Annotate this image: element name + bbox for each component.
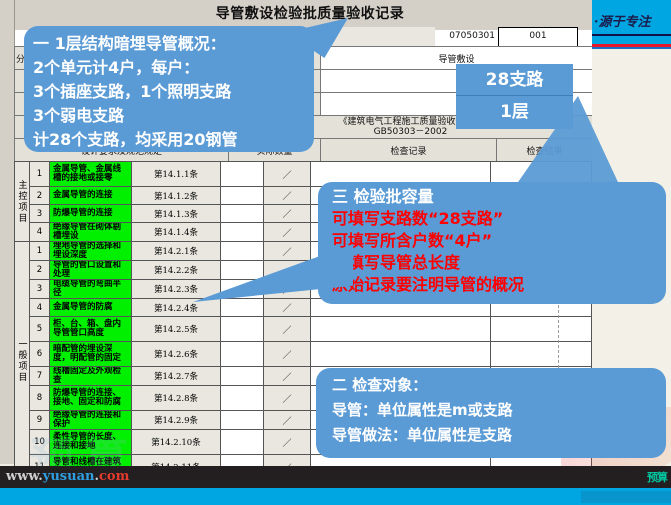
- row-item-name: 防爆导管的连接: [50, 205, 132, 223]
- row-check-result[interactable]: [491, 342, 592, 367]
- row-clause: 第14.1.2条: [132, 187, 221, 205]
- row-item-name: 防爆导管的连接、接地、固定和防腐: [50, 386, 132, 411]
- brand-logo-blue-bar: [592, 47, 671, 49]
- section-label-key-items: 主控项目: [15, 162, 30, 242]
- callout-capacity-line-1: 可填写支路数“28支路”: [332, 208, 666, 230]
- row-clause: 第14.2.4条: [132, 299, 221, 317]
- row-actual-qty[interactable]: [221, 317, 264, 342]
- table-row: 6暗配管的埋设深度，明配管的固定第14.2.6条／: [15, 342, 592, 367]
- row-actual-qty[interactable]: [221, 299, 264, 317]
- row-item-name: 金属导管、金属线槽的接地或接零: [50, 162, 132, 187]
- callout-overview-line-3: 3个插座支路，1个照明支路: [33, 80, 314, 104]
- row-index: 4: [30, 299, 50, 317]
- callout-overview-line-5: 计28个支路，均采用20钢管: [33, 128, 314, 152]
- row-slash: ／: [264, 242, 311, 261]
- row-index: 3: [30, 205, 50, 223]
- callout-objects-line-2: 导管：单位属性是m或支路: [332, 398, 666, 423]
- row-clause: 第14.2.1条: [132, 242, 221, 261]
- row-actual-qty[interactable]: [221, 386, 264, 411]
- row-slash: ／: [264, 299, 311, 317]
- footer-url-www: www.: [6, 469, 43, 484]
- row-slash: ／: [264, 187, 311, 205]
- row-item-name: 导管的管口设置和处理: [50, 261, 132, 280]
- row-actual-qty[interactable]: [221, 342, 264, 367]
- row-slash: ／: [264, 342, 311, 367]
- row-actual-qty[interactable]: [221, 162, 264, 187]
- row-actual-qty[interactable]: [221, 205, 264, 223]
- slide-canvas: 导管敷设检验批质量验收记录 07050301 001 分部（子分部）工程名称 建…: [0, 0, 671, 505]
- row-index: 1: [30, 242, 50, 261]
- sheet-left-strip: [0, 0, 15, 477]
- row-index: 2: [30, 261, 50, 280]
- row-clause: 第14.2.7条: [132, 367, 221, 386]
- row-index: 5: [30, 317, 50, 342]
- footer-bar-cyan: [0, 488, 671, 505]
- row-slash: ／: [264, 317, 311, 342]
- form-code-row: 07050301 001: [330, 27, 592, 46]
- row-clause: 第14.2.5条: [132, 317, 221, 342]
- callout-overview-line-4: 3个弱电支路: [33, 104, 314, 128]
- callout-overview-line-2: 2个单元计4户，每户：: [33, 56, 314, 80]
- row-slash: ／: [264, 386, 311, 411]
- callout-value-capacity: 28支路: [456, 64, 573, 96]
- row-item-name: 柜、台、箱、盘内导管管口高度: [50, 317, 132, 342]
- row-item-name: 绝缘导管在砌体剔槽埋设: [50, 223, 132, 242]
- callout-capacity: 三 检验批容量 可填写支路数“28支路” 可填写所含户数“4户” 可填写导管总长…: [318, 182, 666, 304]
- callout-objects-line-1: 二 检查对象：: [332, 373, 666, 398]
- row-item-name: 金属导管的连接: [50, 187, 132, 205]
- code-blank: [330, 27, 435, 46]
- callout-capacity-heading: 三 检验批容量: [332, 186, 666, 208]
- row-clause: 第14.2.8条: [132, 386, 221, 411]
- callout-objects: 二 检查对象： 导管：单位属性是m或支路 导管做法：单位属性是支路: [316, 368, 666, 458]
- row-clause: 第14.2.2条: [132, 261, 221, 280]
- callout-capacity-line-4: 原始记录要注明导管的概况: [332, 274, 666, 296]
- row-slash: ／: [264, 205, 311, 223]
- row-index: 4: [30, 223, 50, 242]
- row-clause: 第14.2.3条: [132, 280, 221, 299]
- footer-url[interactable]: www.yusuan.com: [6, 468, 129, 486]
- row-item-name: 线槽固定及外观检查: [50, 367, 132, 386]
- form-code: 07050301: [435, 29, 495, 44]
- row-inspection-record[interactable]: [311, 342, 491, 367]
- row-actual-qty[interactable]: [221, 367, 264, 386]
- row-index: 2: [30, 187, 50, 205]
- row-index: 8: [30, 386, 50, 411]
- row-actual-qty[interactable]: [221, 261, 264, 280]
- col-header-inspection-record: 检查记录: [321, 139, 497, 162]
- page-title: 导管敷设检验批质量验收记录: [150, 2, 470, 26]
- callout-value-location: 1层: [456, 96, 573, 129]
- callout-objects-line-3: 导管做法：单位属性是支路: [332, 423, 666, 448]
- callout-overview-line-1: 一 1层结构暗埋导管概况：: [33, 32, 314, 56]
- row-item-name: 埋地导管的选择和埋设深度: [50, 242, 132, 261]
- row-check-result[interactable]: [491, 317, 592, 342]
- row-actual-qty[interactable]: [221, 223, 264, 242]
- brand-logo: ·源于专注: [592, 0, 671, 49]
- row-clause: 第14.2.6条: [132, 342, 221, 367]
- row-index: 3: [30, 280, 50, 299]
- row-item-name: 电缆导管的弯曲半径: [50, 280, 132, 299]
- row-inspection-record[interactable]: [311, 317, 491, 342]
- row-index: 6: [30, 342, 50, 367]
- callout-overview: 一 1层结构暗埋导管概况： 2个单元计4户，每户： 3个插座支路，1个照明支路 …: [24, 26, 314, 152]
- standard-code: GB50303－2002: [374, 127, 448, 137]
- row-item-name: 暗配管的埋设深度，明配管的固定: [50, 342, 132, 367]
- brand-logo-text: ·源于专注: [594, 11, 651, 30]
- row-slash: ／: [264, 162, 311, 187]
- footer-url-com: com: [99, 469, 129, 484]
- row-actual-qty[interactable]: [221, 187, 264, 205]
- callout-capacity-line-2: 可填写所含户数“4户”: [332, 230, 666, 252]
- row-clause: 第14.1.1条: [132, 162, 221, 187]
- footer-url-name: yusuan: [43, 469, 95, 484]
- row-item-name: 金属导管的防腐: [50, 299, 132, 317]
- section-label-general-items: 一般项目: [15, 242, 30, 480]
- row-index: 7: [30, 367, 50, 386]
- row-actual-qty[interactable]: [221, 242, 264, 261]
- row-index: 1: [30, 162, 50, 187]
- form-number-box[interactable]: 001: [498, 27, 578, 48]
- row-clause: 第14.1.4条: [132, 223, 221, 242]
- brand-logo-underline: [592, 34, 671, 36]
- footer-bar-accent: [581, 491, 671, 503]
- row-slash: ／: [264, 367, 311, 386]
- row-slash: ／: [264, 223, 311, 242]
- footer-brand-mark: 预算: [647, 469, 667, 485]
- callout-capacity-line-3: 可填写导管总长度: [332, 252, 666, 274]
- row-clause: 第14.1.3条: [132, 205, 221, 223]
- footer-bar-dark: www.yusuan.com 预算: [0, 466, 671, 488]
- table-row: 5柜、台、箱、盘内导管管口高度第14.2.5条／: [15, 317, 592, 342]
